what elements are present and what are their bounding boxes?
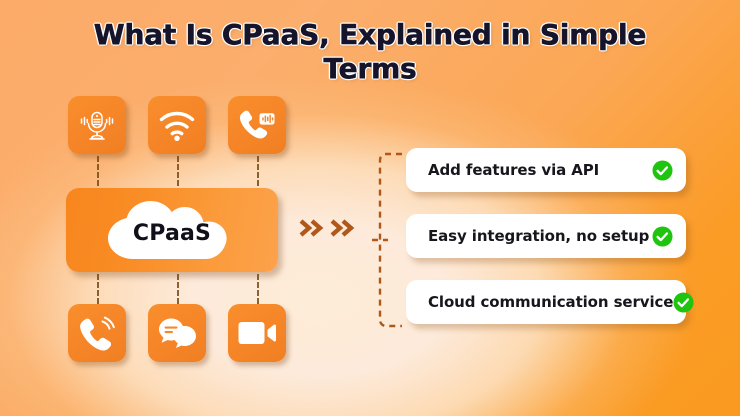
icon-tile-phone-voice[interactable] (228, 96, 286, 154)
wifi-icon (158, 108, 196, 142)
benefit-card-1[interactable]: Add features via API (406, 148, 686, 192)
flow-arrows (298, 218, 355, 242)
icon-tile-phone-ringing[interactable] (68, 304, 126, 362)
connector-dash-top-2 (177, 156, 179, 186)
cpaas-center-node[interactable]: CPaaS (66, 188, 278, 272)
double-chevron-right-icon-2 (329, 218, 355, 242)
connector-dash-bottom-2 (177, 274, 179, 304)
microphone-icon (77, 105, 117, 145)
benefit-card-2-label: Easy integration, no setup (428, 227, 652, 245)
benefit-card-3-label: Cloud communication service (428, 293, 673, 311)
phone-voice-icon (237, 108, 277, 142)
infographic-canvas: What Is CPaaS, Explained in Simple Terms (0, 0, 740, 416)
icon-tile-chat[interactable] (148, 304, 206, 362)
benefit-card-2[interactable]: Easy integration, no setup (406, 214, 686, 258)
double-chevron-right-icon-1 (298, 218, 324, 242)
chat-bubbles-icon (158, 316, 196, 350)
benefit-card-1-label: Add features via API (428, 161, 652, 179)
icon-tile-microphone[interactable] (68, 96, 126, 154)
phone-ringing-icon (78, 315, 116, 351)
connector-dash-top-1 (97, 156, 99, 186)
connector-dash-top-3 (257, 156, 259, 186)
connector-dash-bottom-1 (97, 274, 99, 304)
check-circle-icon-2 (652, 226, 673, 247)
page-title: What Is CPaaS, Explained in Simple Terms (70, 18, 670, 86)
cpaas-label: CPaaS (87, 197, 257, 263)
video-camera-icon (238, 320, 276, 346)
connector-dash-bottom-3 (257, 274, 259, 304)
check-circle-icon-1 (652, 160, 673, 181)
icon-tile-video[interactable] (228, 304, 286, 362)
icon-tile-wifi[interactable] (148, 96, 206, 154)
check-circle-icon-3 (673, 292, 694, 313)
benefit-card-3[interactable]: Cloud communication service (406, 280, 686, 324)
